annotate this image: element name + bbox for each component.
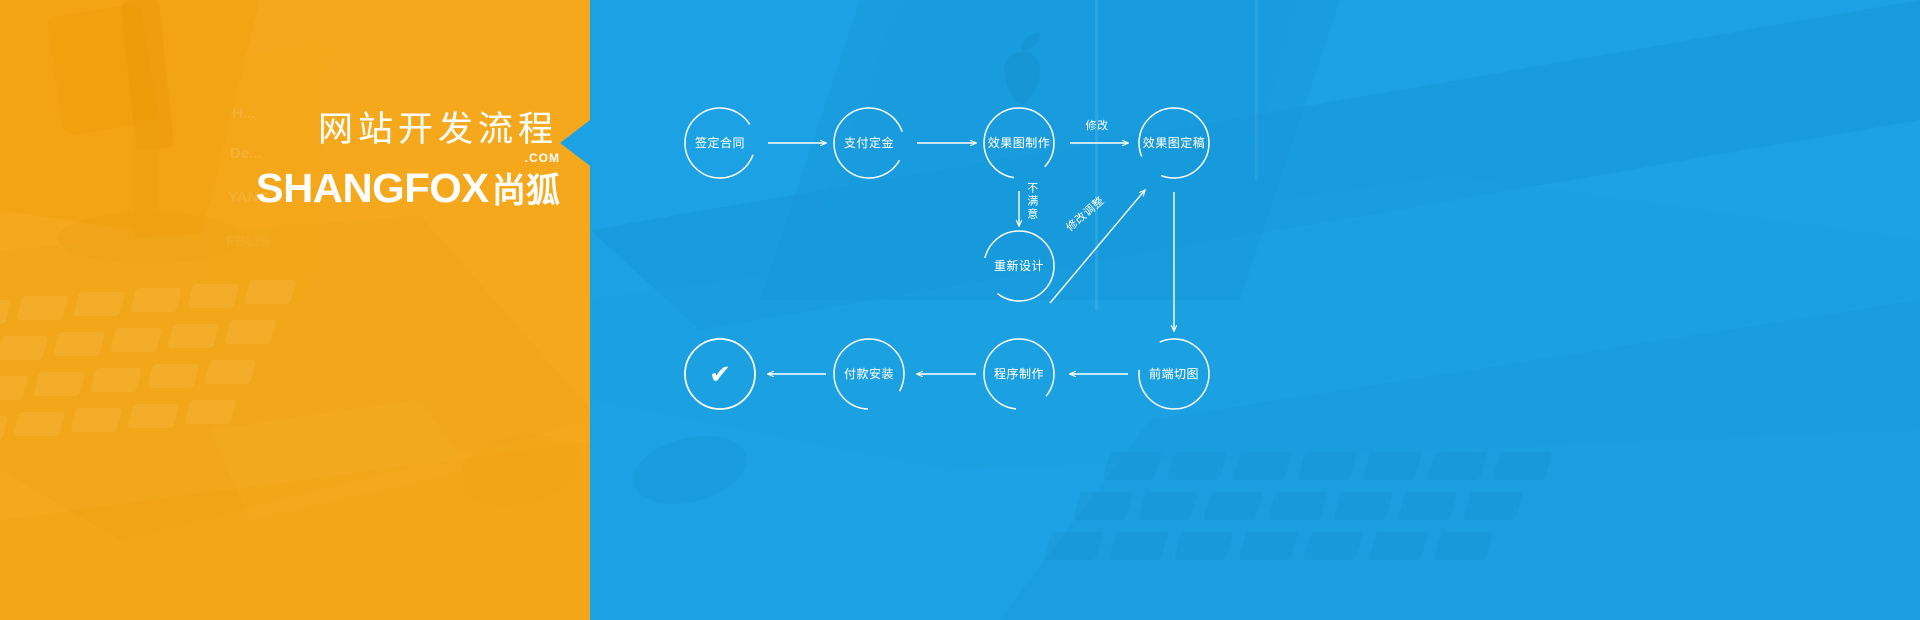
checkmark-icon: ✔ — [709, 361, 731, 387]
logo-latin-text: SHANGFOX — [255, 168, 488, 209]
flow-node-complete[interactable]: ✔ — [684, 338, 756, 410]
page-title: 网站开发流程 — [318, 112, 558, 147]
edge-label-revise: 修改 — [1086, 121, 1109, 133]
flow-node-label: 前端切图 — [1149, 368, 1199, 380]
flow-node-pay-deposit[interactable]: 支付定金 — [833, 107, 905, 179]
left-text-block: 网站开发流程 .COM SHANGFOX 尚狐 — [0, 0, 590, 620]
flow-node-pay-install[interactable]: 付款安装 — [833, 338, 905, 410]
logo-tld: .COM — [525, 152, 560, 164]
flow-node-label: 付款安装 — [844, 368, 894, 380]
flow-node-label: 签定合同 — [695, 137, 745, 149]
flow-node-sign-contract[interactable]: 签定合同 — [684, 107, 756, 179]
flow-node-label: 重新设计 — [994, 260, 1044, 272]
flow-node-mockup-production[interactable]: 效果图制作 — [983, 107, 1055, 179]
brand-logo[interactable]: SHANGFOX 尚狐 — [258, 168, 560, 209]
flow-node-label: 效果图制作 — [988, 137, 1051, 149]
logo-chinese-text: 尚狐 — [492, 174, 560, 208]
flow-node-label: 支付定金 — [844, 137, 894, 149]
flow-node-label: 效果图定稿 — [1143, 137, 1206, 149]
flow-node-label: 程序制作 — [994, 368, 1044, 380]
flow-node-frontend-slicing[interactable]: 前端切图 — [1138, 338, 1210, 410]
flow-node-redesign[interactable]: 重新设计 — [983, 230, 1055, 302]
edge-label-unsatisfied: 不满意 — [1027, 183, 1040, 222]
flow-node-program-build[interactable]: 程序制作 — [983, 338, 1055, 410]
banner-root: H... De... YANG FBLIS — [0, 0, 1920, 620]
flow-node-mockup-final[interactable]: 效果图定稿 — [1138, 107, 1210, 179]
